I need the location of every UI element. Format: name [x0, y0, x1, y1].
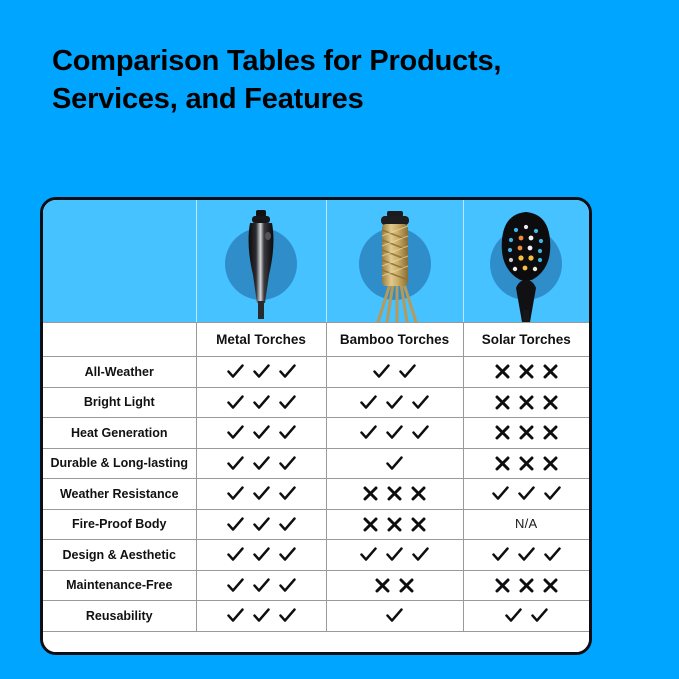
check-icon	[227, 486, 244, 501]
feature-label-bright-light: Bright Light	[43, 387, 196, 418]
cross-icon	[519, 364, 534, 379]
cross-icon	[411, 517, 426, 532]
table-row: Maintenance-Free	[43, 570, 589, 601]
product-image-cell-bamboo-torches	[326, 200, 463, 323]
cross-icon	[399, 578, 414, 593]
table-row: Heat Generation	[43, 418, 589, 449]
check-icon	[253, 395, 270, 410]
check-icon	[360, 547, 377, 562]
check-icon	[386, 425, 403, 440]
check-icon	[492, 547, 509, 562]
cross-icon	[363, 517, 378, 532]
feature-label-reusability: Reusability	[43, 601, 196, 632]
check-icon	[505, 608, 522, 623]
check-icon	[253, 364, 270, 379]
check-icon	[253, 456, 270, 471]
cross-icon	[543, 578, 558, 593]
product-image-row	[43, 200, 589, 323]
rating-marks	[197, 364, 326, 379]
cell-rating-solar-torches	[463, 601, 589, 632]
cell-rating-solar-torches	[463, 387, 589, 418]
comparison-table: Metal TorchesBamboo TorchesSolar Torches…	[43, 200, 589, 655]
rating-marks	[197, 547, 326, 562]
cell-rating-metal-torches	[196, 601, 326, 632]
check-icon	[360, 395, 377, 410]
rating-marks	[327, 547, 463, 562]
cross-icon	[495, 364, 510, 379]
feature-label-design-aesthetic: Design & Aesthetic	[43, 540, 196, 571]
check-icon	[531, 608, 548, 623]
check-icon	[386, 608, 403, 623]
check-icon	[227, 425, 244, 440]
cross-icon	[543, 395, 558, 410]
rating-marks	[464, 364, 590, 379]
check-icon	[518, 486, 535, 501]
product-stage	[197, 200, 326, 322]
product-name-row: Metal TorchesBamboo TorchesSolar Torches	[43, 323, 589, 357]
cell-rating-bamboo-torches	[326, 570, 463, 601]
check-icon	[279, 456, 296, 471]
cell-rating-metal-torches	[196, 570, 326, 601]
solar-torch-icon	[471, 200, 581, 322]
cell-rating-metal-torches	[196, 509, 326, 540]
feature-label-all-weather: All-Weather	[43, 357, 196, 388]
table-corner-cell	[43, 200, 196, 323]
cell-na-solar-torches: N/A	[463, 509, 589, 540]
check-icon	[253, 608, 270, 623]
table-row: Bright Light	[43, 387, 589, 418]
cell-rating-metal-torches	[196, 479, 326, 510]
table-row: Durable & Long-lasting	[43, 448, 589, 479]
rating-marks	[327, 456, 463, 471]
cross-icon	[519, 395, 534, 410]
cell-rating-bamboo-torches	[326, 601, 463, 632]
check-icon	[412, 547, 429, 562]
product-stage	[327, 200, 463, 322]
check-icon	[253, 547, 270, 562]
rating-marks	[464, 425, 590, 440]
rating-marks	[327, 608, 463, 623]
cell-rating-solar-torches	[463, 540, 589, 571]
product-name-solar-torches: Solar Torches	[463, 323, 589, 357]
rating-marks	[197, 486, 326, 501]
cell-rating-bamboo-torches	[326, 387, 463, 418]
cross-icon	[387, 486, 402, 501]
feature-label-weather-resistance: Weather Resistance	[43, 479, 196, 510]
cell-rating-metal-torches	[196, 418, 326, 449]
rating-marks	[197, 517, 326, 532]
cross-icon	[375, 578, 390, 593]
cell-rating-bamboo-torches	[326, 479, 463, 510]
cross-icon	[495, 578, 510, 593]
check-icon	[227, 364, 244, 379]
check-icon	[227, 517, 244, 532]
rating-marks	[327, 486, 463, 501]
cross-icon	[543, 364, 558, 379]
check-icon	[279, 425, 296, 440]
check-icon	[412, 425, 429, 440]
cell-rating-bamboo-torches	[326, 448, 463, 479]
rating-marks	[197, 608, 326, 623]
check-icon	[253, 517, 270, 532]
cross-icon	[519, 425, 534, 440]
feature-label-maintenance-free: Maintenance-Free	[43, 570, 196, 601]
feature-label-heat-generation: Heat Generation	[43, 418, 196, 449]
check-icon	[386, 456, 403, 471]
check-icon	[544, 547, 561, 562]
check-icon	[253, 578, 270, 593]
cell-rating-metal-torches	[196, 448, 326, 479]
check-icon	[492, 486, 509, 501]
check-icon	[518, 547, 535, 562]
product-image-cell-solar-torches	[463, 200, 589, 323]
rating-marks	[464, 395, 590, 410]
table-row: All-Weather	[43, 357, 589, 388]
table-row: Fire-Proof Body N/A	[43, 509, 589, 540]
product-image-cell-metal-torches	[196, 200, 326, 323]
cross-icon	[543, 425, 558, 440]
table-row: Reusability	[43, 601, 589, 632]
page-title: Comparison Tables for Products, Services…	[52, 42, 612, 119]
check-icon	[227, 395, 244, 410]
check-icon	[253, 425, 270, 440]
check-icon	[544, 486, 561, 501]
cell-rating-metal-torches	[196, 357, 326, 388]
rating-marks	[197, 456, 326, 471]
bamboo-torch-icon	[340, 200, 450, 322]
check-icon	[227, 608, 244, 623]
cell-rating-metal-torches	[196, 540, 326, 571]
cell-rating-bamboo-torches	[326, 540, 463, 571]
comparison-table-body: Metal TorchesBamboo TorchesSolar Torches…	[43, 200, 589, 655]
rating-marks	[327, 395, 463, 410]
cross-icon	[543, 456, 558, 471]
table-row: Weather Resistance	[43, 479, 589, 510]
filler-cell	[196, 631, 326, 655]
cross-icon	[387, 517, 402, 532]
check-icon	[399, 364, 416, 379]
rating-marks	[464, 547, 590, 562]
check-icon	[279, 578, 296, 593]
na-text: N/A	[515, 516, 538, 531]
product-name-bamboo-torches: Bamboo Torches	[326, 323, 463, 357]
cell-rating-solar-torches	[463, 448, 589, 479]
rating-marks	[197, 395, 326, 410]
check-icon	[412, 395, 429, 410]
check-icon	[279, 547, 296, 562]
feature-label-fire-proof-body: Fire-Proof Body	[43, 509, 196, 540]
product-name-metal-torches: Metal Torches	[196, 323, 326, 357]
table-bottom-filler	[43, 631, 589, 655]
rating-marks	[327, 578, 463, 593]
rating-marks	[197, 578, 326, 593]
cross-icon	[495, 395, 510, 410]
check-icon	[279, 517, 296, 532]
check-icon	[386, 547, 403, 562]
cell-rating-bamboo-torches	[326, 357, 463, 388]
cell-rating-solar-torches	[463, 479, 589, 510]
comparison-table-card: Metal TorchesBamboo TorchesSolar Torches…	[40, 197, 592, 655]
cell-rating-solar-torches	[463, 357, 589, 388]
cell-rating-bamboo-torches	[326, 509, 463, 540]
cross-icon	[519, 456, 534, 471]
check-icon	[227, 578, 244, 593]
rating-marks	[327, 364, 463, 379]
check-icon	[279, 486, 296, 501]
filler-cell	[326, 631, 463, 655]
rating-marks	[464, 608, 590, 623]
cell-rating-bamboo-torches	[326, 418, 463, 449]
check-icon	[386, 395, 403, 410]
check-icon	[360, 425, 377, 440]
cross-icon	[519, 578, 534, 593]
rating-marks	[464, 456, 590, 471]
check-icon	[279, 364, 296, 379]
filler-cell	[463, 631, 589, 655]
feature-column-header	[43, 323, 196, 357]
check-icon	[373, 364, 390, 379]
feature-label-durable-long-lasting: Durable & Long-lasting	[43, 448, 196, 479]
check-icon	[227, 547, 244, 562]
rating-marks	[327, 425, 463, 440]
rating-marks	[464, 578, 590, 593]
table-row: Design & Aesthetic	[43, 540, 589, 571]
check-icon	[253, 486, 270, 501]
rating-marks	[327, 517, 463, 532]
rating-marks	[464, 486, 590, 501]
cross-icon	[363, 486, 378, 501]
cell-rating-solar-torches	[463, 418, 589, 449]
check-icon	[279, 395, 296, 410]
cross-icon	[411, 486, 426, 501]
check-icon	[227, 456, 244, 471]
cross-icon	[495, 425, 510, 440]
cell-rating-metal-torches	[196, 387, 326, 418]
rating-marks	[197, 425, 326, 440]
product-stage	[464, 200, 590, 322]
check-icon	[279, 608, 296, 623]
metal-torch-icon	[206, 200, 316, 322]
cross-icon	[495, 456, 510, 471]
filler-cell	[43, 631, 196, 655]
cell-rating-solar-torches	[463, 570, 589, 601]
